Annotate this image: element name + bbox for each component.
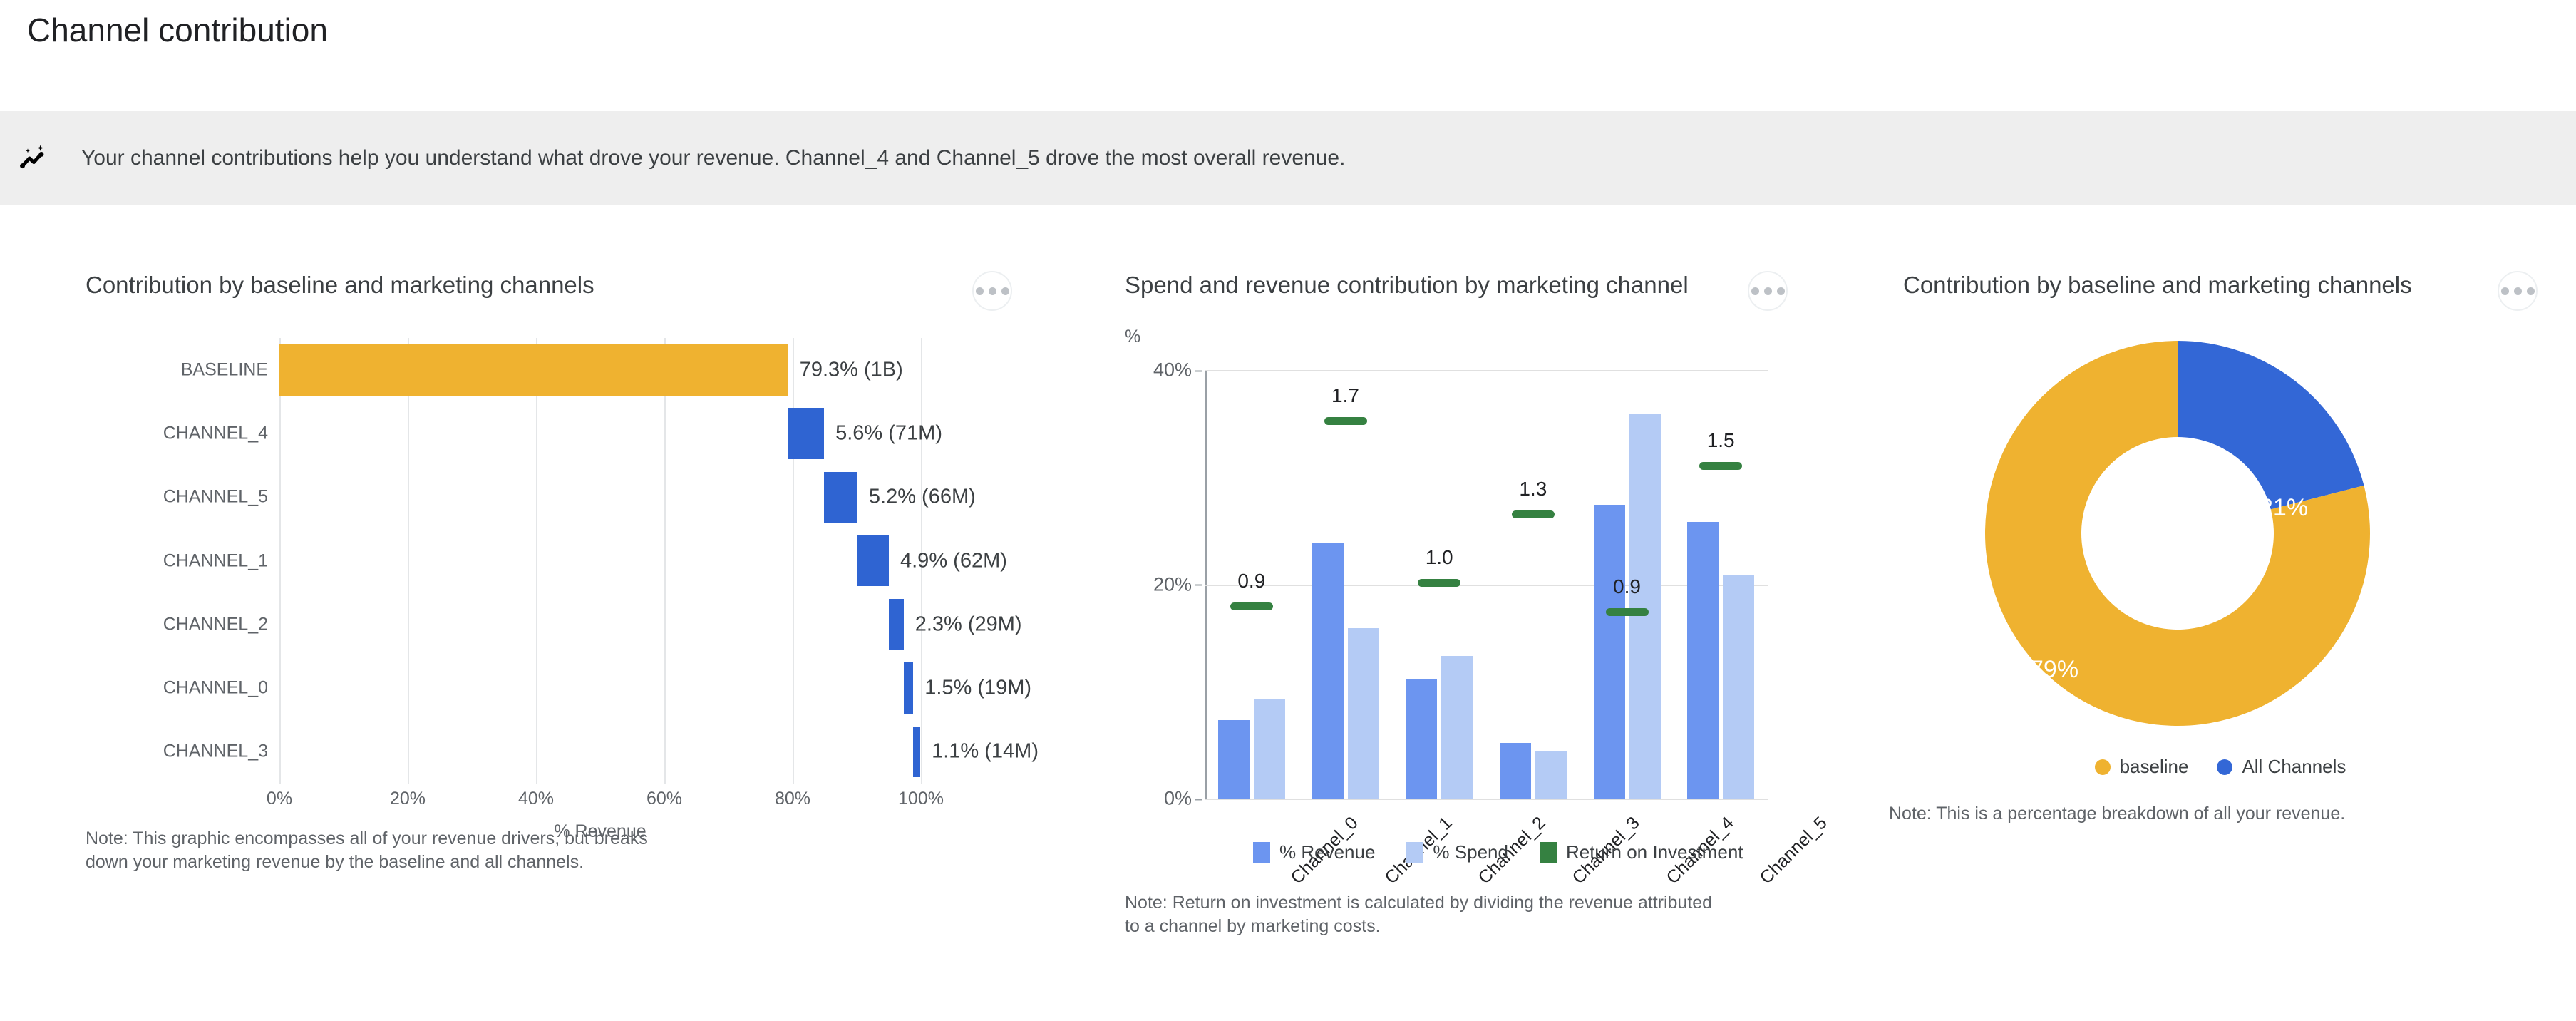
waterfall-category-label: CHANNEL_2 [163, 614, 268, 635]
panel-contribution-donut: Contribution by baseline and marketing c… [1903, 271, 2573, 776]
bars-revenue-bar[interactable] [1687, 522, 1719, 799]
waterfall-category-label: CHANNEL_1 [163, 550, 268, 571]
bars-roi-marker[interactable] [1512, 510, 1555, 518]
panel-contribution-waterfall: Contribution by baseline and marketing c… [86, 271, 1055, 816]
waterfall-x-tick-label: 80% [775, 789, 810, 809]
waterfall-x-tick-label: 40% [518, 789, 554, 809]
donut-legend: baselineAll Channels [1903, 756, 2538, 778]
donut-legend-item[interactable]: All Channels [2217, 756, 2346, 778]
bars-revenue-bar[interactable] [1312, 543, 1344, 799]
bars-revenue-bar[interactable] [1594, 505, 1625, 799]
bars-roi-label: 1.3 [1519, 478, 1547, 501]
page-title: Channel contribution [27, 10, 328, 50]
bars-roi-label: 1.7 [1331, 384, 1359, 407]
waterfall-bar[interactable] [857, 535, 889, 586]
waterfall-gridline [536, 338, 537, 784]
waterfall-bar[interactable] [788, 408, 824, 458]
waterfall-gridline [793, 338, 794, 784]
donut-chart: 21% 79% [1903, 319, 2538, 776]
donut-legend-label: baseline [2120, 756, 2189, 778]
bars-spend-bar[interactable] [1348, 628, 1379, 799]
bars-note: Note: Return on investment is calculated… [1125, 891, 1724, 938]
bars-header: Spend and revenue contribution by market… [1125, 271, 1788, 311]
donut-overflow-menu-icon[interactable] [2498, 271, 2538, 311]
bars-roi-label: 1.5 [1707, 429, 1735, 452]
bars-chart: 0%20%40%0.9Channel_01.7Channel_11.0Chann… [1125, 354, 1788, 796]
waterfall-bar[interactable] [824, 472, 857, 523]
bars-legend-label: % Revenue [1279, 841, 1375, 863]
waterfall-value-label: 2.3% (29M) [915, 612, 1022, 636]
legend-swatch-icon [1253, 842, 1270, 863]
bars-roi-marker[interactable] [1324, 417, 1367, 425]
bars-roi-marker[interactable] [1418, 579, 1460, 587]
waterfall-gridline [408, 338, 409, 784]
bars-legend: % Revenue% SpendReturn on Investment [1253, 841, 1743, 863]
waterfall-value-label: 79.3% (1B) [800, 358, 903, 381]
waterfall-x-tick-label: 100% [898, 789, 944, 809]
waterfall-value-label: 5.6% (71M) [835, 421, 942, 445]
bars-roi-label: 1.0 [1426, 546, 1453, 569]
waterfall-x-tick-label: 20% [390, 789, 426, 809]
bars-revenue-bar[interactable] [1406, 679, 1437, 799]
waterfall-gridline [664, 338, 666, 784]
bars-spend-bar[interactable] [1723, 575, 1754, 799]
bars-spend-bar[interactable] [1629, 414, 1661, 799]
bars-y-tick-label: 40% [1153, 359, 1192, 381]
bars-roi-label: 0.9 [1613, 575, 1641, 598]
bars-gridline [1205, 585, 1768, 586]
waterfall-category-label: BASELINE [181, 359, 268, 380]
bars-roi-marker[interactable] [1230, 602, 1273, 610]
waterfall-overflow-menu-icon[interactable] [972, 271, 1012, 311]
waterfall-category-label: CHANNEL_3 [163, 742, 268, 762]
waterfall-bar[interactable] [889, 599, 904, 650]
donut-title: Contribution by baseline and marketing c… [1903, 271, 2412, 299]
waterfall-category-label: CHANNEL_0 [163, 678, 268, 699]
bars-title: Spend and revenue contribution by market… [1125, 271, 1689, 299]
waterfall-category-label: CHANNEL_4 [163, 423, 268, 443]
waterfall-value-label: 1.1% (14M) [932, 740, 1039, 764]
waterfall-x-tick-label: 60% [646, 789, 682, 809]
donut-header: Contribution by baseline and marketing c… [1903, 271, 2538, 311]
legend-dot-icon [2217, 759, 2232, 775]
waterfall-gridline [279, 338, 281, 784]
bars-gridline [1205, 370, 1768, 371]
bars-gridline [1205, 799, 1768, 800]
bars-roi-marker[interactable] [1606, 608, 1649, 616]
waterfall-bar[interactable] [279, 344, 788, 396]
legend-swatch-icon [1406, 842, 1423, 863]
bars-spend-bar[interactable] [1441, 656, 1473, 799]
bars-y-tick-label: 20% [1153, 573, 1192, 595]
waterfall-plot-area [279, 338, 921, 784]
donut-note: Note: This is a percentage breakdown of … [1889, 802, 2431, 826]
bars-legend-item-revenue[interactable]: % Revenue [1253, 841, 1375, 863]
bars-roi-label: 0.9 [1237, 570, 1265, 592]
channel-contribution-page: Channel contribution Your channel contri… [0, 0, 2576, 1021]
insight-banner-text: Your channel contributions help you unde… [81, 144, 1345, 173]
waterfall-title: Contribution by baseline and marketing c… [86, 271, 594, 299]
waterfall-bar[interactable] [913, 727, 920, 777]
waterfall-x-tick-label: 0% [267, 789, 292, 809]
bars-revenue-bar[interactable] [1218, 720, 1250, 799]
bars-spend-bar[interactable] [1254, 699, 1285, 799]
bars-legend-label: Return on Investment [1566, 841, 1743, 863]
donut-slice[interactable] [2178, 341, 2364, 509]
bars-legend-item-spend[interactable]: % Spend [1406, 841, 1508, 863]
insight-banner: Your channel contributions help you unde… [0, 111, 2576, 205]
bars-y-tick-label: 0% [1164, 788, 1192, 810]
bars-y-axis-unit: % [1125, 327, 1809, 347]
bars-revenue-bar[interactable] [1500, 743, 1531, 799]
donut-svg [1964, 319, 2391, 761]
panel-spend-revenue-bars: Spend and revenue contribution by market… [1125, 271, 1809, 796]
bars-roi-marker[interactable] [1699, 462, 1742, 470]
insights-sparkle-icon [13, 137, 56, 180]
waterfall-note: Note: This graphic encompasses all of yo… [86, 827, 656, 874]
waterfall-value-label: 4.9% (62M) [900, 549, 1007, 573]
donut-legend-item[interactable]: baseline [2095, 756, 2189, 778]
legend-swatch-icon [1540, 842, 1557, 863]
waterfall-category-label: CHANNEL_5 [163, 487, 268, 508]
donut-label-baseline: 79% [2030, 656, 2078, 684]
donut-legend-label: All Channels [2242, 756, 2346, 778]
waterfall-x-ticks: 0%20%40%60%80%100% [279, 789, 921, 817]
waterfall-chart: 0%20%40%60%80%100% % Revenue BASELINE79.… [86, 338, 1012, 816]
bars-overflow-menu-icon[interactable] [1748, 271, 1788, 311]
bars-x-tick-label: Channel_5 [1756, 813, 1832, 888]
bars-legend-label: % Spend [1433, 841, 1508, 863]
waterfall-value-label: 1.5% (19M) [924, 677, 1031, 700]
waterfall-bar[interactable] [904, 662, 914, 713]
bars-spend-bar[interactable] [1535, 751, 1567, 799]
waterfall-header: Contribution by baseline and marketing c… [86, 271, 1012, 311]
donut-label-all-channels: 21% [2260, 494, 2308, 522]
bars-legend-item-roi[interactable]: Return on Investment [1540, 841, 1743, 863]
bars-plot-area: 0%20%40%0.9Channel_01.7Channel_11.0Chann… [1205, 370, 1768, 799]
legend-dot-icon [2095, 759, 2111, 775]
waterfall-value-label: 5.2% (66M) [869, 486, 976, 509]
